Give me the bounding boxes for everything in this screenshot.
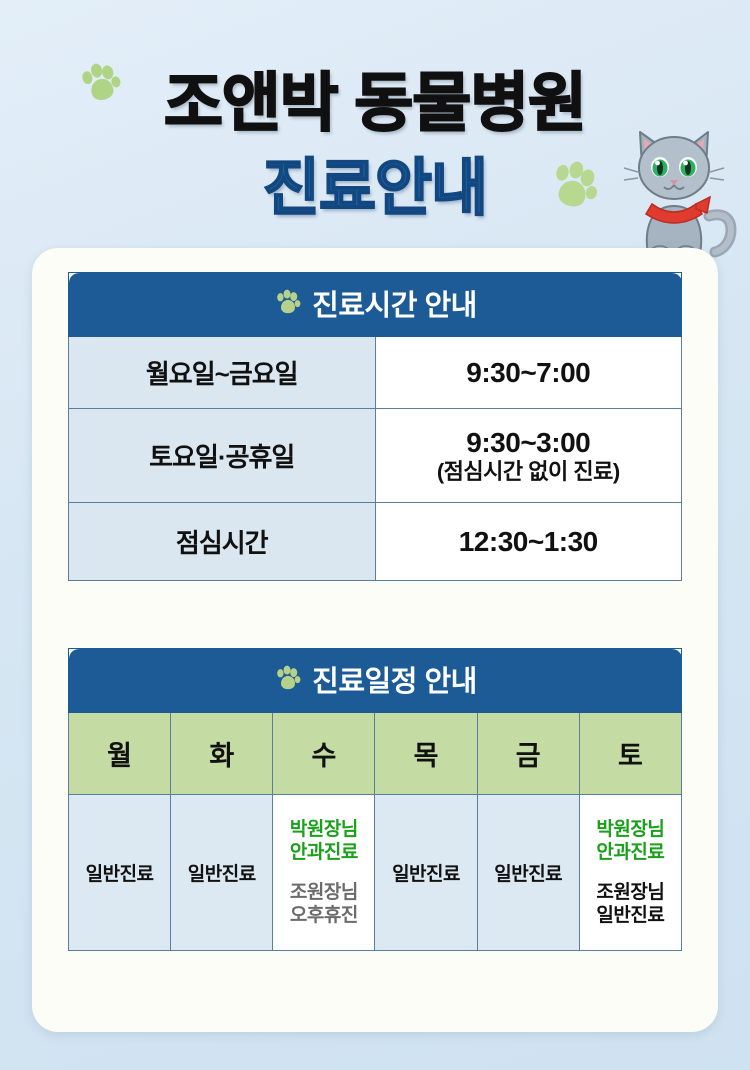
schedule-body-row: 일반진료 일반진료 박원장님안과진료 조원장님오후휴진 일반진료 일반진료 박원… <box>69 795 682 951</box>
schedule-table-title: 진료일정 안내 <box>69 649 682 713</box>
schedule-cell-secondary: 조원장님오후휴진 <box>273 881 374 927</box>
schedule-cell-fri: 일반진료 <box>477 795 579 951</box>
table-row: 점심시간 12:30~1:30 <box>69 503 682 581</box>
hours-row-label: 토요일·공휴일 <box>69 409 376 503</box>
paw-print-icon <box>273 665 303 693</box>
schedule-cell-wed: 박원장님안과진료 조원장님오후휴진 <box>273 795 375 951</box>
hours-row-value-text: 9:30~7:00 <box>466 357 590 388</box>
schedule-table-title-text: 진료일정 안내 <box>312 658 477 700</box>
schedule-day-header-mon: 월 <box>69 713 171 795</box>
schedule-cell-thu: 일반진료 <box>375 795 477 951</box>
schedule-cell-primary: 일반진료 <box>494 864 562 885</box>
schedule-cell-sat: 박원장님안과진료 조원장님일반진료 <box>579 795 681 951</box>
hours-row-label: 점심시간 <box>69 503 376 581</box>
hours-table: 진료시간 안내 월요일~금요일 9:30~7:00 토요일·공휴일 9:30~3… <box>68 272 682 581</box>
schedule-cell-primary: 일반진료 <box>86 864 154 885</box>
schedule-cell-secondary: 조원장님일반진료 <box>580 881 681 927</box>
schedule-cell-primary: 박원장님안과진료 <box>580 818 681 864</box>
hours-row-value: 9:30~3:00 (점심시간 없이 진료) <box>375 409 682 503</box>
poster-header: 조앤박 동물병원 진료안내 <box>0 0 750 248</box>
schedule-cell-primary: 일반진료 <box>188 864 256 885</box>
hours-row-value-text: 9:30~3:00 <box>466 427 590 458</box>
hours-row-label: 월요일~금요일 <box>69 337 376 409</box>
schedule-day-header-thu: 목 <box>375 713 477 795</box>
hours-row-value: 9:30~7:00 <box>375 337 682 409</box>
paw-print-icon <box>74 58 128 111</box>
schedule-day-header-row: 월 화 수 목 금 토 <box>69 713 682 795</box>
table-row: 월요일~금요일 9:30~7:00 <box>69 337 682 409</box>
hours-table-title-row: 진료시간 안내 <box>69 273 682 337</box>
cat-illustration <box>612 112 740 262</box>
content-card: 진료시간 안내 월요일~금요일 9:30~7:00 토요일·공휴일 9:30~3… <box>32 248 718 1032</box>
paw-print-icon <box>273 289 303 317</box>
schedule-day-header-sat: 토 <box>579 713 681 795</box>
hours-row-value: 12:30~1:30 <box>375 503 682 581</box>
table-row: 토요일·공휴일 9:30~3:00 (점심시간 없이 진료) <box>69 409 682 503</box>
schedule-table: 진료일정 안내 월 화 수 목 금 토 일반진료 일반진료 박원장님안과진료 조… <box>68 648 682 951</box>
schedule-table-title-row: 진료일정 안내 <box>69 649 682 713</box>
schedule-cell-primary: 일반진료 <box>392 864 460 885</box>
schedule-cell-mon: 일반진료 <box>69 795 171 951</box>
schedule-day-header-tue: 화 <box>171 713 273 795</box>
hours-row-value-text: 12:30~1:30 <box>459 526 598 557</box>
schedule-day-header-fri: 금 <box>477 713 579 795</box>
hours-row-note: (점심시간 없이 진료) <box>376 459 682 485</box>
schedule-cell-primary: 박원장님안과진료 <box>273 818 374 864</box>
hours-table-title-text: 진료시간 안내 <box>312 282 477 324</box>
schedule-day-header-wed: 수 <box>273 713 375 795</box>
schedule-cell-tue: 일반진료 <box>171 795 273 951</box>
hours-table-title: 진료시간 안내 <box>69 273 682 337</box>
